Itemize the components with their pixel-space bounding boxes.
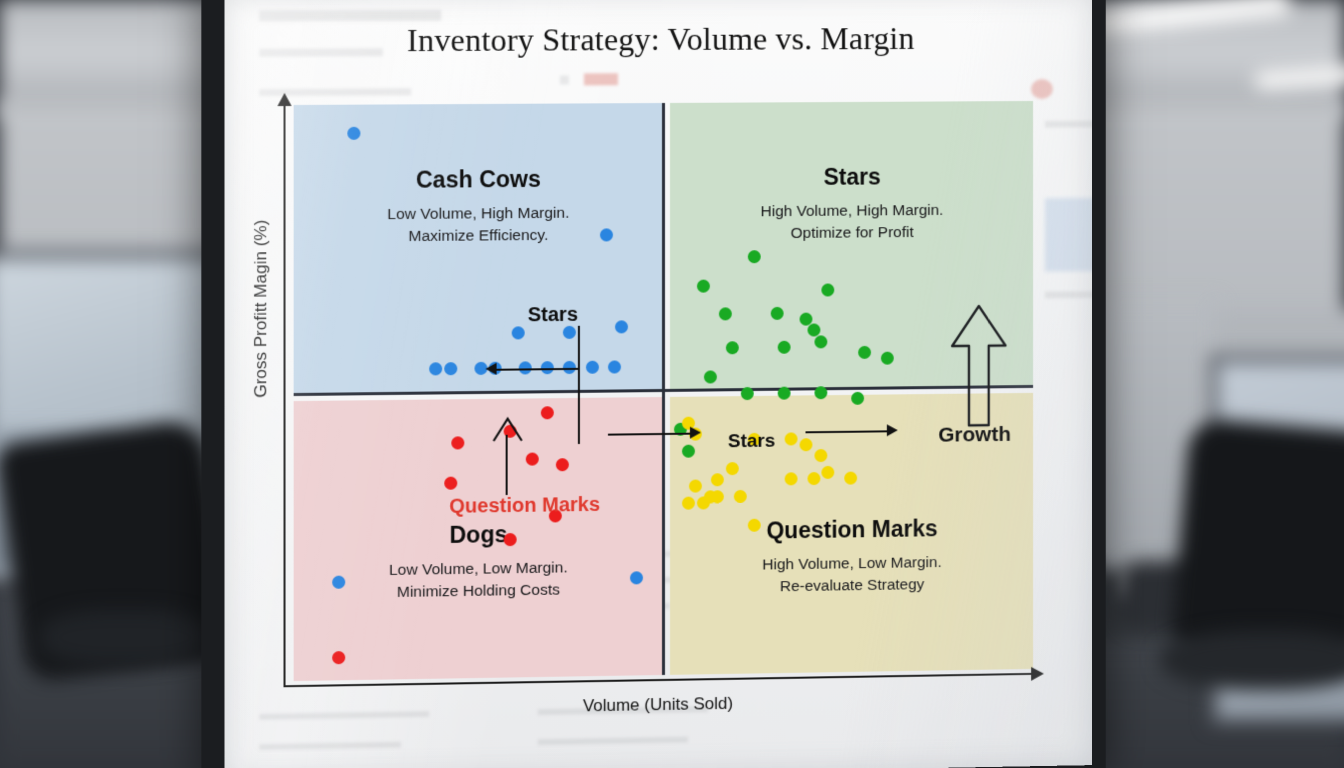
- data-point: [347, 127, 360, 140]
- data-point: [332, 651, 345, 664]
- growth-arrow-icon: [948, 302, 1009, 430]
- y-axis-label: Gross Profitt Magin (%): [251, 208, 271, 410]
- quadrant-subtitle-cash-cows-line1: Low Volume, High Margin.: [294, 203, 662, 227]
- data-point: [429, 362, 442, 375]
- data-point: [800, 438, 813, 451]
- data-point: [844, 472, 857, 485]
- annotation-arrow-right-2-head-icon: [887, 424, 898, 436]
- chair-right-base: [1160, 630, 1344, 690]
- data-point: [689, 479, 702, 492]
- quadrant-subtitle-stars-line1: High Volume, High Margin.: [670, 200, 1033, 224]
- quadrant-subtitle-stars-line2: Optimize for Profit: [670, 222, 1033, 246]
- data-point: [615, 320, 628, 333]
- annotation-arrow-right-1-head-icon: [690, 427, 701, 439]
- chair-left-base: [40, 610, 210, 665]
- data-point: [807, 472, 820, 485]
- annotation-arrow-up-head-icon: [492, 417, 524, 443]
- x-axis-arrow-icon: [1031, 667, 1044, 681]
- data-point: [851, 392, 864, 405]
- quadrant-subtitle-question-marks-line2: Re-evaluate Strategy: [670, 574, 1033, 600]
- data-point: [585, 360, 598, 373]
- data-point: [719, 307, 732, 320]
- data-point: [696, 279, 709, 292]
- data-point: [814, 335, 827, 348]
- annotation-arrow-up-stem: [506, 435, 508, 495]
- presentation-board: Inventory Strategy: Volume vs. Margin Ca…: [225, 0, 1092, 768]
- y-axis-line: [284, 102, 286, 686]
- data-point: [608, 360, 621, 373]
- data-point: [733, 490, 746, 503]
- quadrant-subtitle-dogs-line2: Minimize Holding Costs: [294, 579, 662, 605]
- annotation-connector-vertical: [578, 326, 580, 444]
- data-point: [726, 462, 739, 475]
- y-axis-arrow-icon: [277, 93, 291, 106]
- quadrant-cash-cows: Cash Cows Low Volume, High Margin. Maxim…: [294, 103, 662, 393]
- data-point: [444, 477, 457, 490]
- quadrant-dogs: Dogs Low Volume, Low Margin. Minimize Ho…: [294, 397, 662, 681]
- data-point: [556, 458, 569, 471]
- chart-title: Inventory Strategy: Volume vs. Margin: [225, 19, 1092, 60]
- annotation-arrow-left-head-icon: [486, 363, 497, 375]
- annotation-question-marks-dogs: Question Marks: [449, 494, 600, 519]
- data-point: [704, 370, 717, 383]
- quadrant-title-dogs: Dogs: [294, 519, 662, 551]
- data-point: [682, 496, 695, 509]
- data-point: [770, 307, 783, 320]
- quadrant-title-cash-cows: Cash Cows: [294, 165, 662, 195]
- data-point: [696, 496, 709, 509]
- annotation-stars-cash-cows: Stars: [528, 304, 578, 328]
- data-point: [880, 352, 893, 365]
- data-point: [511, 327, 524, 340]
- annotation-stars-question-marks: Stars: [728, 431, 775, 454]
- data-point: [444, 362, 457, 375]
- quadrant-scatter-chart: Inventory Strategy: Volume vs. Margin Ca…: [225, 0, 1092, 768]
- quadrant-title-stars: Stars: [670, 163, 1033, 192]
- x-axis-label: Volume (Units Sold): [508, 693, 808, 718]
- quadrant-title-question-marks: Question Marks: [670, 514, 1033, 546]
